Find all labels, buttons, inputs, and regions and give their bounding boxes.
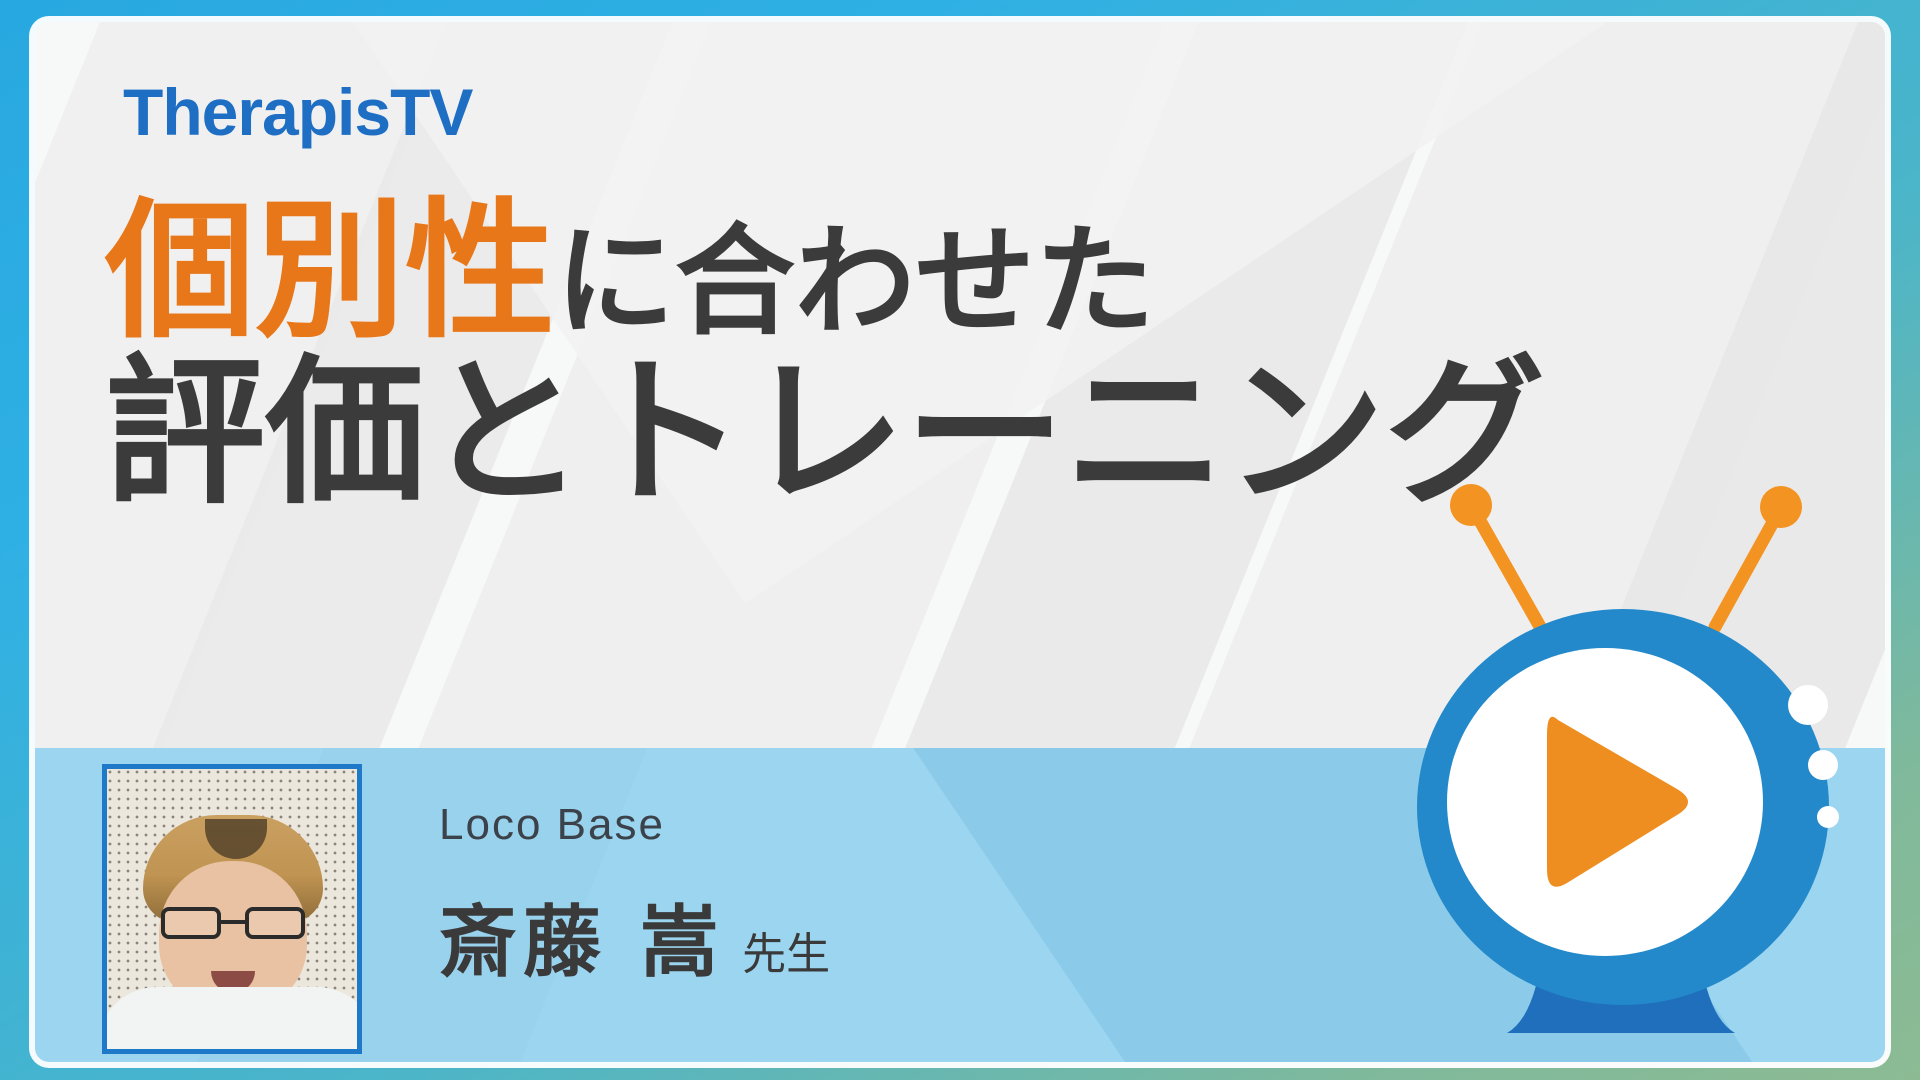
portrait-shirt xyxy=(102,987,362,1049)
headline: 個別性に合わせた 評価とトレーニング xyxy=(105,197,1545,513)
tv-dot-2 xyxy=(1808,750,1838,780)
speaker-organization: Loco Base xyxy=(439,800,665,850)
brand-logo: TherapisTV xyxy=(123,74,472,150)
thumbnail-card: TherapisTV 個別性に合わせた 評価とトレーニング Loco Base … xyxy=(35,22,1885,1062)
speaker-photo xyxy=(102,764,362,1054)
speaker-honorific: 先生 xyxy=(742,918,830,982)
speaker-name: 斎藤 嵩 xyxy=(439,880,724,992)
tv-dot-1 xyxy=(1788,685,1828,725)
antenna-left-icon xyxy=(1450,484,1543,632)
glasses-icon xyxy=(157,907,309,939)
speaker-name-row: 斎藤 嵩 先生 xyxy=(439,880,830,992)
headline-accent: 個別性 xyxy=(105,185,555,359)
antenna-right-icon xyxy=(1715,486,1802,627)
portrait xyxy=(107,799,357,1049)
tv-dot-3 xyxy=(1817,806,1839,828)
tv-character-mascot xyxy=(1415,477,1885,1037)
headline-line-1: 個別性に合わせた xyxy=(105,197,1545,347)
headline-line-2: 評価とトレーニング xyxy=(105,353,1545,513)
headline-line-1-rest: に合わせた xyxy=(555,213,1155,352)
